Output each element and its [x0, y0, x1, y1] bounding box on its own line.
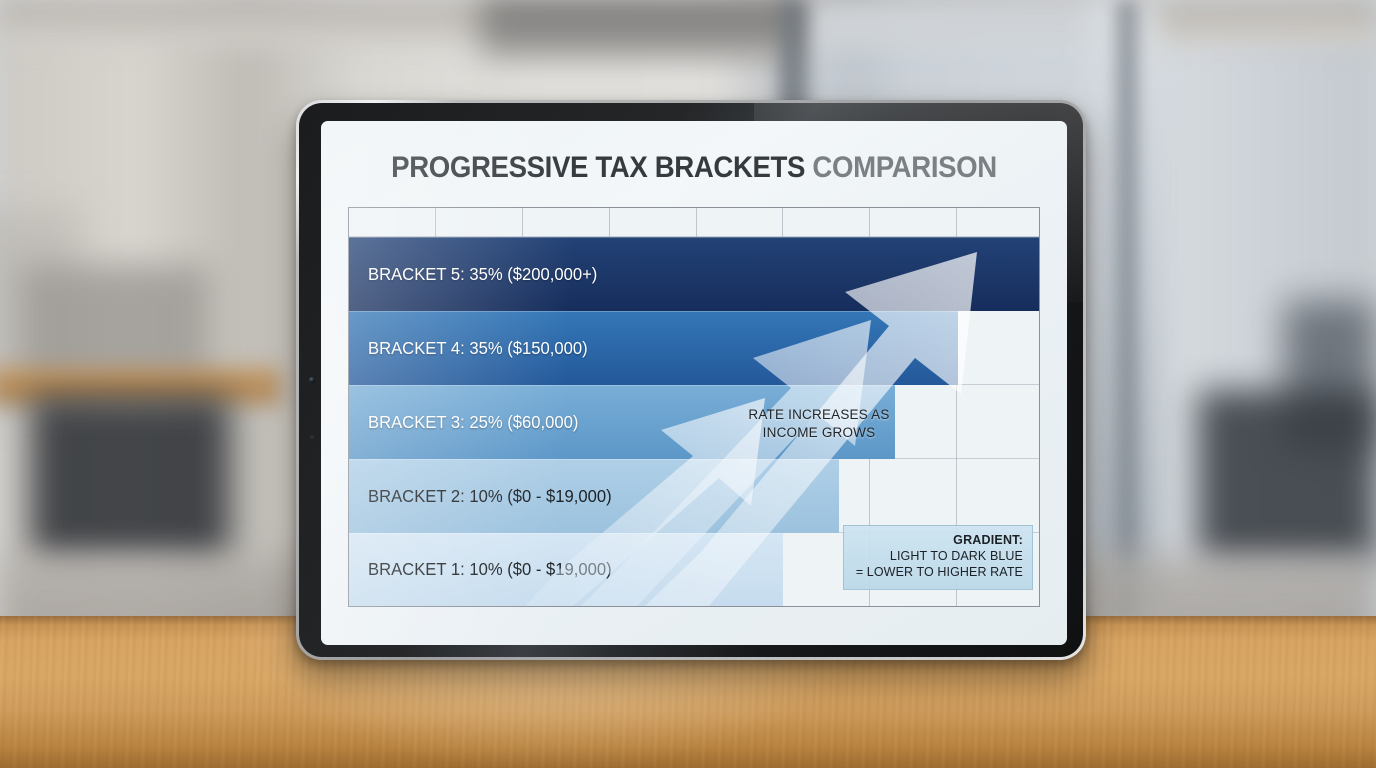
ceiling-beam	[480, 0, 810, 58]
rate-increase-annotation: RATE INCREASES AS INCOME GROWS	[729, 406, 909, 442]
tax-bracket-bar-chart[interactable]: BRACKET 5: 35% ($200,000+) BRACKET 4: 35…	[348, 207, 1040, 607]
bar-bracket-4: BRACKET 4: 35% ($150,000)	[349, 311, 958, 385]
tablet-device: PROGRESSIVE TAX BRACKETS COMPARISON	[296, 100, 1086, 660]
annotation-line-1: RATE INCREASES AS	[729, 406, 909, 424]
page-title: PROGRESSIVE TAX BRACKETS COMPARISON	[375, 151, 1013, 185]
bar-label-bracket-3: BRACKET 3: 25% ($60,000)	[349, 412, 578, 433]
office-chair-left	[30, 396, 230, 561]
sensor-icon	[310, 435, 314, 439]
bar-row-bracket-2[interactable]: BRACKET 2: 10% ($0 - $19,000)	[349, 459, 839, 533]
front-camera-icon	[309, 377, 315, 383]
office-chair-right	[1198, 390, 1376, 565]
bar-row-bracket-5[interactable]: BRACKET 5: 35% ($200,000+)	[349, 237, 1040, 311]
tablet-bezel: PROGRESSIVE TAX BRACKETS COMPARISON	[299, 103, 1083, 657]
window-frame-secondary	[1118, 0, 1136, 620]
bar-bracket-1: BRACKET 1: 10% ($0 - $19,000)	[349, 533, 783, 606]
bar-row-bracket-4[interactable]: BRACKET 4: 35% ($150,000)	[349, 311, 958, 385]
annotation-line-2: INCOME GROWS	[729, 424, 909, 442]
legend-line-2: = LOWER TO HIGHER RATE	[853, 565, 1023, 581]
gradient-legend: GRADIENT: LIGHT TO DARK BLUE = LOWER TO …	[843, 525, 1033, 590]
bar-bracket-2: BRACKET 2: 10% ($0 - $19,000)	[349, 459, 839, 533]
legend-title: GRADIENT:	[853, 533, 1023, 549]
gridline-h-6	[349, 606, 1039, 607]
tablet-screen[interactable]: PROGRESSIVE TAX BRACKETS COMPARISON	[321, 121, 1067, 645]
legend-line-1: LIGHT TO DARK BLUE	[853, 549, 1023, 565]
bar-label-bracket-1: BRACKET 1: 10% ($0 - $19,000)	[349, 559, 612, 580]
bar-label-bracket-2: BRACKET 2: 10% ($0 - $19,000)	[349, 486, 612, 507]
title-sub: COMPARISON	[812, 151, 996, 184]
presentation-slide: PROGRESSIVE TAX BRACKETS COMPARISON	[321, 121, 1067, 645]
title-main: PROGRESSIVE TAX BRACKETS	[391, 151, 805, 184]
bar-label-bracket-5: BRACKET 5: 35% ($200,000+)	[349, 264, 597, 285]
bar-label-bracket-4: BRACKET 4: 35% ($150,000)	[349, 338, 588, 359]
bar-row-bracket-1[interactable]: BRACKET 1: 10% ($0 - $19,000)	[349, 533, 783, 606]
bar-bracket-5: BRACKET 5: 35% ($200,000+)	[349, 237, 1040, 311]
